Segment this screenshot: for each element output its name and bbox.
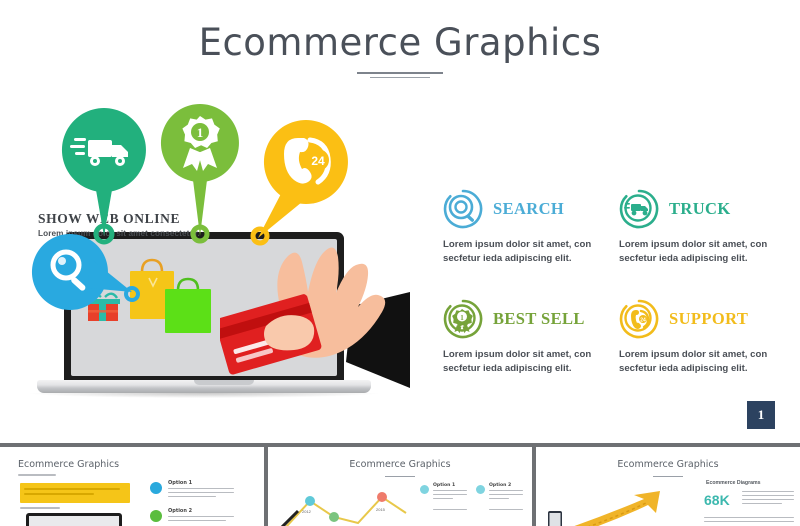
thumbnail-text-line: [168, 492, 234, 493]
thumbnail-text-line: [433, 498, 453, 499]
feature-support[interactable]: 24 SUPPORT Lorem ipsum dolor sit amet, c…: [619, 298, 787, 375]
thumbnail-text-line: [433, 494, 467, 495]
feature-body: Lorem ipsum dolor sit amet, con secfetur…: [619, 348, 769, 375]
thumbnail-text-line: [168, 488, 234, 489]
laptop-shadow: [30, 393, 378, 398]
slide-canvas: Ecommerce Graphics: [0, 0, 800, 443]
thumbnail-text-line: [433, 490, 467, 491]
truck-pin[interactable]: [58, 104, 150, 244]
thumbnail-text-line: [704, 517, 794, 518]
thumbnail-stat-label: Ecommerce Diagrams: [706, 480, 761, 486]
thumbnail-text-line: [20, 507, 60, 509]
support-pin[interactable]: 24: [252, 116, 352, 244]
thumbnail-banner-line: [24, 493, 94, 495]
magnifier-ring-icon: [443, 189, 483, 229]
feature-truck[interactable]: TRUCK Lorem ipsum dolor sit amet, con se…: [619, 188, 787, 265]
thumbnail-slide-1[interactable]: Ecommerce Graphics Option 1 Option 2: [0, 447, 264, 526]
support-badge-number: 24: [311, 154, 325, 168]
thumbnail-title-underline: [385, 476, 415, 477]
thumbnail-title: Ecommerce Graphics: [349, 459, 450, 470]
thumbnail-text-line: [433, 509, 467, 510]
truck-ring-icon: [619, 189, 659, 229]
thumbnail-subline: [18, 474, 56, 476]
feature-label: SUPPORT: [669, 309, 748, 329]
title-underline-thick: [357, 72, 443, 74]
thumbnail-option-label: Option 2: [168, 508, 192, 514]
thumbnail-stat-value: 68K: [704, 492, 730, 508]
award-ring-icon: 1: [443, 299, 483, 339]
thumbnail-laptop: [26, 513, 122, 526]
award-badge-number: 1: [197, 125, 204, 140]
feature-label: BEST SELL: [493, 309, 585, 329]
thumbnail-banner-line: [24, 488, 120, 490]
thumbnail-growth-arrow: [546, 485, 696, 526]
thumbnail-slide-3[interactable]: Ecommerce Graphics Ecommerce Diagrams 68…: [536, 447, 800, 526]
feature-best-sell[interactable]: 1 BEST SELL Lorem ipsum dolor sit amet, …: [443, 298, 611, 375]
feature-header: TRUCK: [619, 188, 787, 230]
shopping-bag-green-icon: [164, 276, 212, 334]
thumbnail-option-label: Option 1: [433, 483, 455, 488]
feature-body: Lorem ipsum dolor sit amet, con secfetur…: [443, 348, 593, 375]
title-underline-thin: [370, 77, 430, 78]
feature-label: TRUCK: [669, 199, 731, 219]
thumbnail-text-line: [742, 491, 794, 492]
feature-header: 1 BEST SELL: [443, 298, 611, 340]
ecommerce-illustration: 1 24: [24, 104, 424, 414]
thumbnail-text-line: [168, 516, 234, 517]
feature-header: 24 SUPPORT: [619, 298, 787, 340]
thumbnail-text-line: [489, 494, 523, 495]
best-seller-pin[interactable]: 1: [157, 100, 243, 244]
thumbnail-title: Ecommerce Graphics: [18, 459, 119, 470]
svg-text:2012: 2012: [302, 509, 312, 514]
feature-label: SEARCH: [493, 199, 564, 219]
thumbnail-option-icon: [150, 482, 162, 494]
thumbnail-slide-2[interactable]: Ecommerce Graphics 2012 2013 2015 Option…: [268, 447, 532, 526]
feature-header: SEARCH: [443, 188, 611, 230]
svg-text:1: 1: [460, 314, 464, 322]
thumbnail-line-chart: 2012 2013 2015: [276, 487, 416, 526]
svg-text:24: 24: [640, 318, 646, 324]
page-title: Ecommerce Graphics: [0, 24, 800, 61]
thumbnail-title: Ecommerce Graphics: [617, 459, 718, 470]
thumbnail-text-line: [168, 496, 216, 497]
thumbnail-text-line: [489, 490, 523, 491]
hand-with-credit-card: [220, 240, 410, 388]
thumbnail-strip: Ecommerce Graphics Option 1 Option 2 Eco…: [0, 443, 800, 526]
headset-ring-icon: 24: [619, 299, 659, 339]
feature-search[interactable]: SEARCH Lorem ipsum dolor sit amet, con s…: [443, 188, 611, 265]
thumbnail-option-icon: [476, 485, 485, 494]
thumbnail-title-underline: [653, 476, 683, 477]
svg-text:2015: 2015: [376, 507, 386, 512]
page-title-block: Ecommerce Graphics: [0, 24, 800, 78]
thumbnail-option-label: Option 1: [168, 480, 192, 486]
thumbnail-option-icon: [420, 485, 429, 494]
thumbnail-text-line: [704, 521, 794, 522]
thumbnail-text-line: [489, 509, 523, 510]
search-pin[interactable]: [28, 230, 138, 320]
thumbnail-option-icon: [150, 510, 162, 522]
thumbnail-text-line: [489, 498, 509, 499]
page-number-badge: 1: [747, 401, 775, 429]
thumbnail-text-line: [742, 499, 794, 500]
feature-grid: SEARCH Lorem ipsum dolor sit amet, con s…: [443, 188, 783, 388]
thumbnail-text-line: [742, 503, 782, 504]
feature-body: Lorem ipsum dolor sit amet, con secfetur…: [619, 238, 769, 265]
thumbnail-option-label: Option 2: [489, 483, 511, 488]
thumbnail-text-line: [742, 495, 794, 496]
feature-body: Lorem ipsum dolor sit amet, con secfetur…: [443, 238, 593, 265]
thumbnail-text-line: [168, 520, 226, 521]
